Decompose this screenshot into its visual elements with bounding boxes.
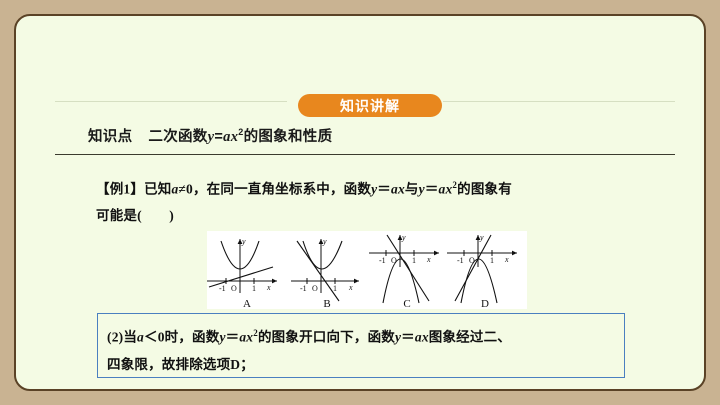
slide-root: 知识讲解 知识点二次函数y=ax2的图象和性质 【例1】已知a≠0，在同一直角坐… [0,0,720,405]
example-line-1: 【例1】已知a≠0，在同一直角坐标系中，函数y＝ax与y＝ax2的图象有 [96,172,636,203]
y-label-a: y [241,237,246,246]
example-text-2: ≠0，在同一直角坐标系中，函数 [178,182,371,197]
figure-panel-c: y x -1 O 1 C [367,231,447,309]
origin-label-a: O [231,284,237,293]
example-eq-1: ＝ [377,182,391,197]
section-badge: 知识讲解 [298,94,442,117]
header-rule-left [55,101,287,102]
one-label-b: 1 [333,284,337,293]
answer-line-1: (2)当a＜0时，函数y＝ax2的图象开口向下，函数y＝ax图象经过二、 [107,320,619,351]
example-question: 【例1】已知a≠0，在同一直角坐标系中，函数y＝ax与y＝ax2的图象有 可能是… [96,172,636,229]
answer-expr-ax1: ax [239,330,253,345]
figure-panel-a: y x -1 O 1 A [207,231,287,309]
x-label-b: x [348,283,353,292]
neg-one-label-a: -1 [219,284,226,293]
knowledge-point-title-prefix: 二次函数 [148,129,207,145]
y-label-b: y [322,237,327,246]
knowledge-point-formula-a: a [223,129,231,145]
example-eq-2: ＝ [425,182,439,197]
answer-expr-ax2: ax [415,330,429,345]
line-c [387,235,429,301]
answer-text-2: ＜0时，函数 [144,330,219,345]
x-label-a: x [266,283,271,292]
answer-text-4: 图象经过二、 [429,330,511,345]
x-axis-arrow-d [512,251,517,256]
figure-panel-c-label: C [367,298,447,310]
origin-label-d: O [469,256,475,265]
section-header-band: 知识讲解 [55,94,675,124]
knowledge-point-title: 知识点二次函数y=ax2的图象和性质 [88,125,332,146]
origin-label-c: O [391,256,397,265]
parabola-c [383,259,419,303]
knowledge-point-title-suffix: 的图象和性质 [244,129,333,145]
example-expr-ax1: ax [391,182,405,197]
knowledge-point-divider [55,154,675,155]
one-label-c: 1 [412,256,416,265]
example-line-2: 可能是( ) [96,203,636,229]
one-label-d: 1 [490,256,494,265]
answer-box: (2)当a＜0时，函数y＝ax2的图象开口向下，函数y＝ax图象经过二、 四象限… [97,313,625,378]
answer-var-a: a [137,330,144,345]
options-figure: y x -1 O 1 A [207,231,527,309]
line-d [455,235,491,301]
answer-text-3: 的图象开口向下，函数 [258,330,395,345]
figure-panel-b: y x -1 O 1 B [287,231,367,309]
answer-eq-1: ＝ [226,330,240,345]
example-tag: 【例1】 [96,182,144,197]
header-rule-right [443,101,675,102]
answer-text: (2)当a＜0时，函数y＝ax2的图象开口向下，函数y＝ax图象经过二、 四象限… [107,320,619,378]
example-expr-ax2: ax [439,182,453,197]
x-label-c: x [426,255,431,264]
neg-one-label-d: -1 [457,256,464,265]
example-text-1: 已知 [144,182,171,197]
example-text-4: 的图象有 [457,182,512,197]
neg-one-label-b: -1 [300,284,307,293]
answer-line-2: 四象限，故排除选项D； [107,351,619,378]
x-axis-arrow-c [434,251,439,256]
slide-content: 知识讲解 知识点二次函数y=ax2的图象和性质 【例1】已知a≠0，在同一直角坐… [0,0,720,405]
figure-panel-d-label: D [445,298,525,310]
y-label-c: y [401,233,406,242]
one-label-a: 1 [252,284,256,293]
x-label-d: x [504,255,509,264]
x-axis-arrow-b [354,279,359,284]
answer-eq-2: ＝ [401,330,415,345]
y-label-d: y [479,233,484,242]
x-axis-arrow-a [272,279,277,284]
neg-one-label-c: -1 [379,256,386,265]
origin-label-b: O [312,284,318,293]
knowledge-point-label: 知识点 [88,129,132,145]
figure-panel-d: y x -1 O 1 D [445,231,525,309]
figure-panel-b-label: B [287,298,367,310]
figure-panel-a-label: A [207,298,287,310]
answer-step-number: (2)当 [107,330,137,345]
knowledge-point-formula-eq: = [214,129,223,145]
example-text-3: 与 [405,182,419,197]
